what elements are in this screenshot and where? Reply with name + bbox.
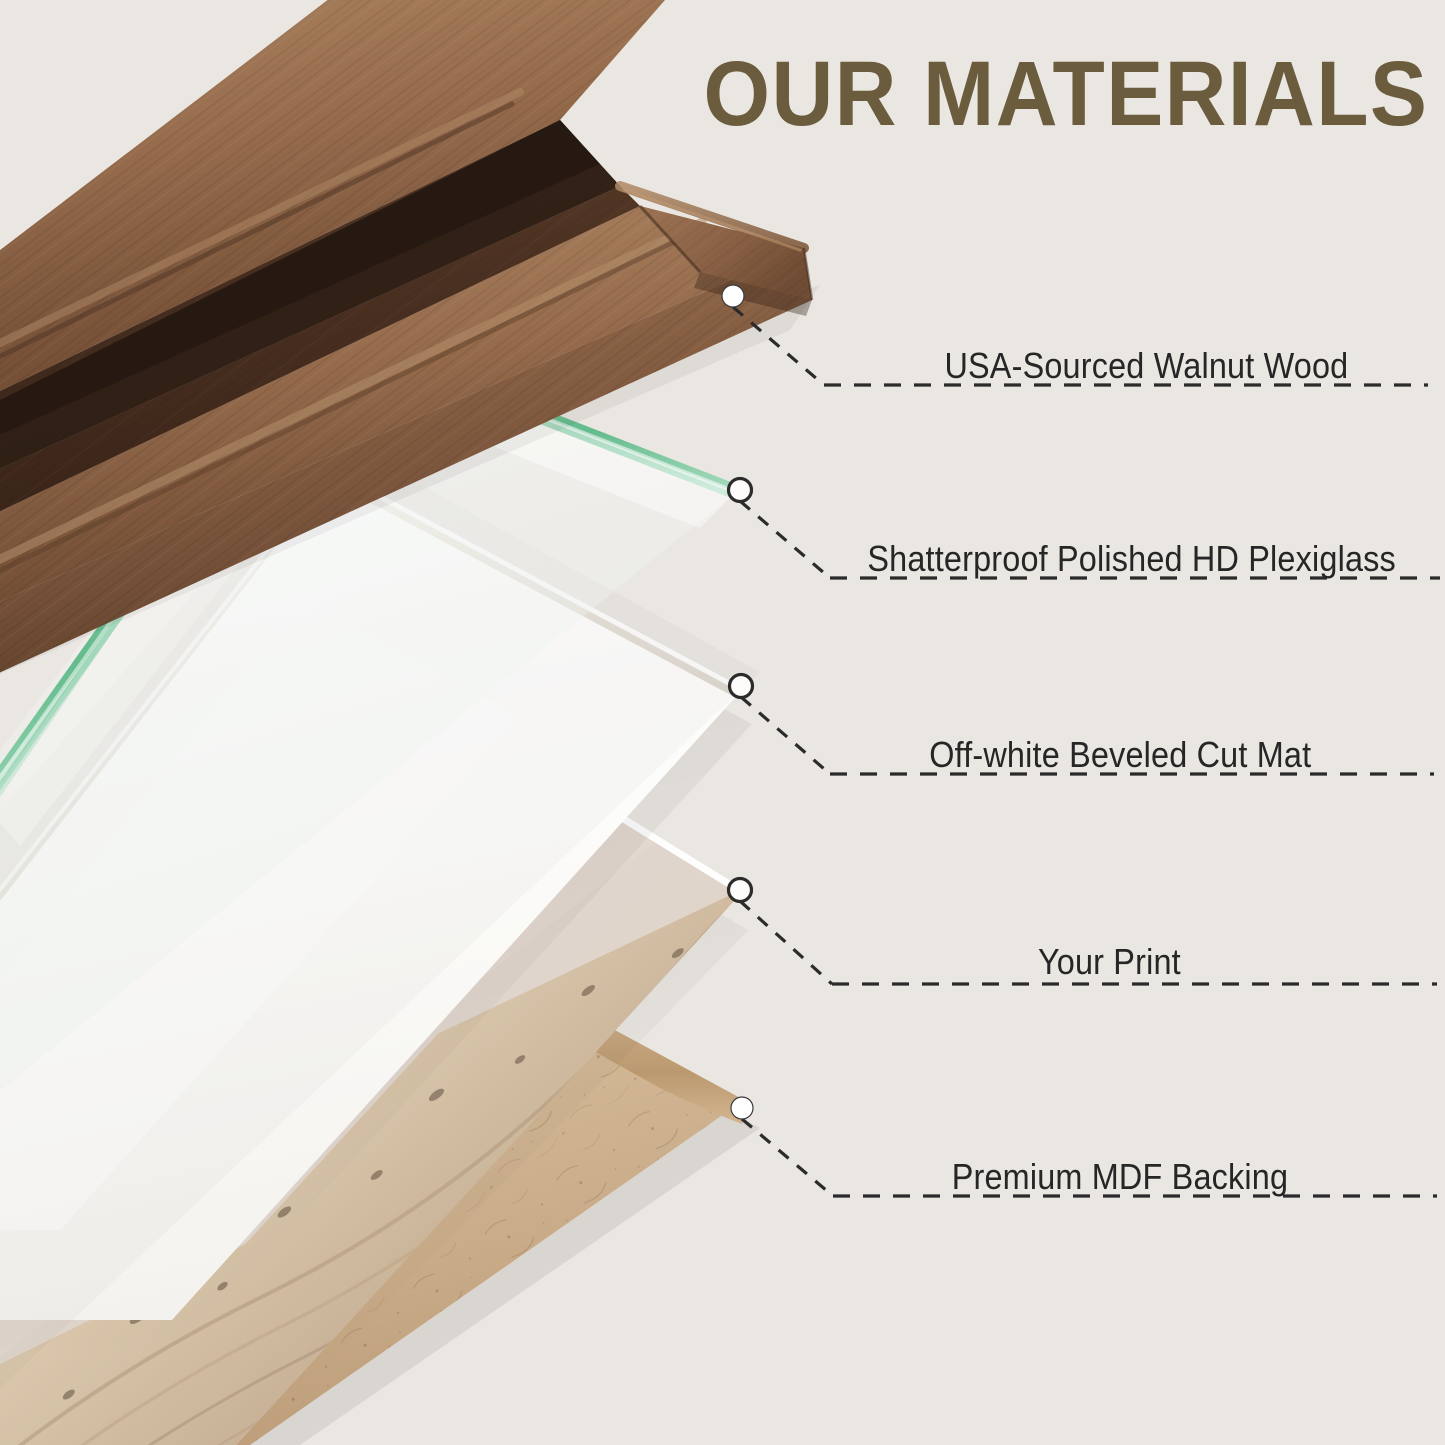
page-title: OUR MATERIALS <box>703 46 1428 143</box>
callout-marker-walnut-wood[interactable] <box>722 285 744 307</box>
leader-line-plexiglass <box>740 501 830 578</box>
leader-line-print <box>740 901 832 984</box>
callout-label-mdf-backing: Premium MDF Backing <box>952 1156 1288 1198</box>
callout-label-plexiglass: Shatterproof Polished HD Plexiglass <box>867 538 1396 580</box>
materials-infographic: OUR MATERIALS USA-Sourced Walnut WoodSha… <box>0 0 1445 1445</box>
callout-label-walnut-wood: USA-Sourced Walnut Wood <box>944 345 1348 387</box>
callout-marker-plexiglass[interactable] <box>729 479 752 502</box>
callout-overlay <box>0 0 1445 1445</box>
callout-marker-mat[interactable] <box>730 675 753 698</box>
callout-label-print: Your Print <box>1038 941 1181 983</box>
leader-line-mat <box>741 697 830 774</box>
leader-line-walnut-wood <box>733 307 824 385</box>
callout-marker-print[interactable] <box>729 879 752 902</box>
leader-line-mdf-backing <box>742 1119 833 1196</box>
callout-label-mat: Off-white Beveled Cut Mat <box>929 734 1311 776</box>
callout-marker-mdf-backing[interactable] <box>731 1097 753 1119</box>
